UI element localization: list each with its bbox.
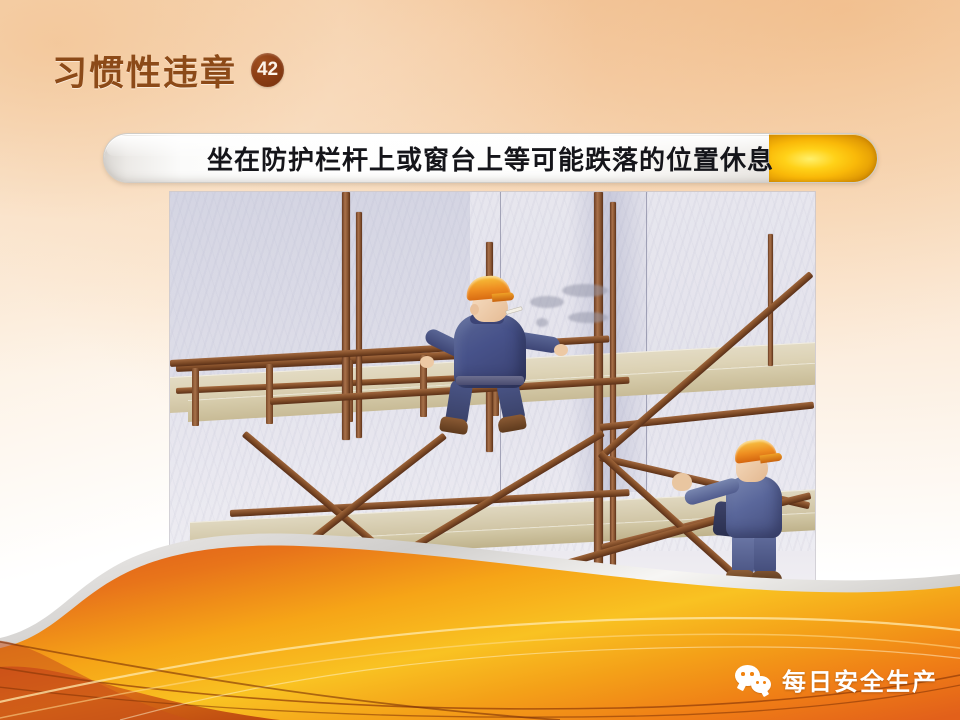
guardrail-post-1 bbox=[192, 368, 199, 426]
scaffold-pole-4 bbox=[768, 234, 773, 366]
slide-root: 习惯性违章 42 坐在防护栏杆上或窗台上等可能跌落的位置休息 bbox=[0, 0, 960, 720]
cigarette-icon bbox=[506, 307, 522, 314]
headline-banner-text: 坐在防护栏杆上或窗台上等可能跌落的位置休息 bbox=[104, 134, 877, 182]
worker-right-boot bbox=[497, 414, 527, 434]
worker-belt bbox=[456, 376, 524, 385]
footer-brand: 每日安全生产 bbox=[735, 662, 938, 696]
smoke-puff-4 bbox=[536, 318, 548, 327]
scaffold-pole-1 bbox=[342, 192, 350, 440]
worker-ear bbox=[470, 304, 479, 315]
smoke-puff-3 bbox=[568, 312, 608, 323]
footer-brand-text: 每日安全生产 bbox=[782, 662, 938, 697]
worker2-hand bbox=[672, 473, 692, 491]
headline-banner: 坐在防护栏杆上或窗台上等可能跌落的位置休息 bbox=[103, 133, 878, 183]
smoke-puff-2 bbox=[562, 284, 608, 297]
worker-left-hand bbox=[420, 356, 434, 368]
scaffold-pole-1b bbox=[356, 212, 362, 438]
hard-hat-brim bbox=[492, 292, 515, 302]
wechat-dot-4 bbox=[763, 681, 766, 684]
page-title: 习惯性违章 42 bbox=[52, 44, 284, 96]
page-title-text: 习惯性违章 bbox=[52, 45, 237, 96]
guardrail-post-2 bbox=[266, 364, 273, 424]
wechat-icon bbox=[735, 665, 771, 693]
slide-number-badge: 42 bbox=[251, 53, 284, 87]
wechat-bubble-small bbox=[751, 676, 771, 693]
worker-right-hand bbox=[554, 344, 568, 356]
wechat-dot-1 bbox=[741, 672, 745, 676]
building-line-3 bbox=[646, 192, 647, 492]
smoke-puff-1 bbox=[530, 296, 564, 308]
wechat-dot-2 bbox=[750, 672, 754, 676]
hard-hat-brim bbox=[760, 453, 783, 464]
wechat-dot-3 bbox=[756, 681, 759, 684]
